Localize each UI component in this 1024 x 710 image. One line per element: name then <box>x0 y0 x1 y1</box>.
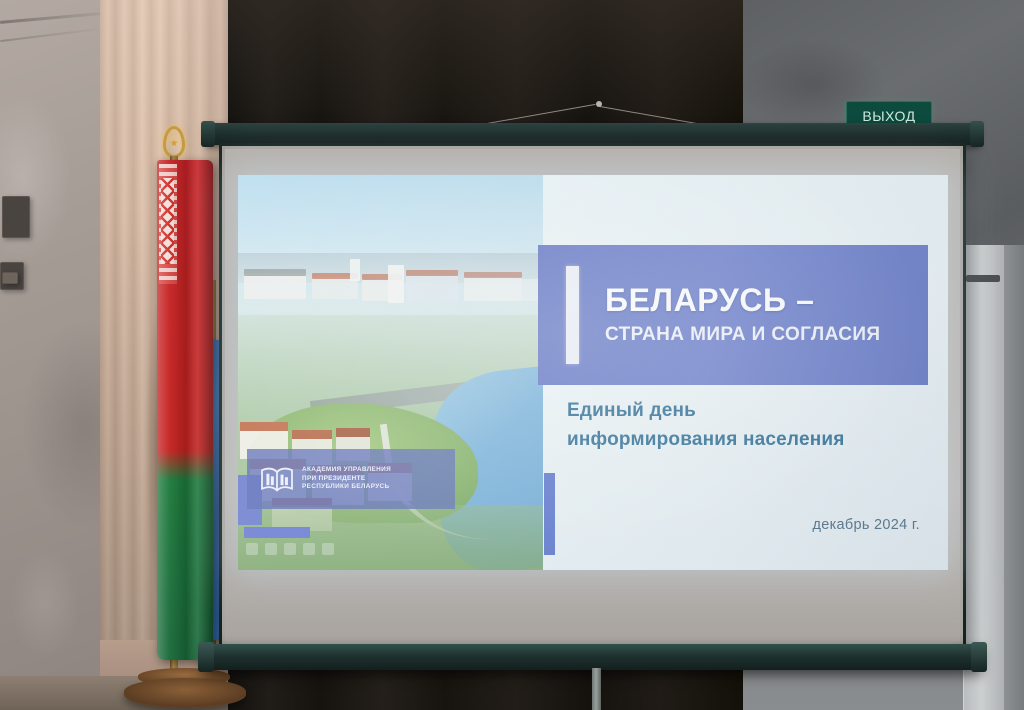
left-wall <box>0 0 112 710</box>
logo-line-2: ПРИ ПРЕЗИДЕНТЕ <box>302 476 391 482</box>
logo-line-3: РЕСПУБЛИКИ БЕЛАРУСЬ <box>302 484 391 490</box>
wall-fixture <box>2 272 18 284</box>
slide-date: декабрь 2024 г. <box>812 517 920 533</box>
screen-top-bar <box>205 123 980 145</box>
flag-stand-base <box>124 678 246 708</box>
social-icon <box>284 543 296 555</box>
screen-top-cap-right <box>970 121 984 147</box>
slide-content-panel: БЕЛАРУСЬ – СТРАНА МИРА И СОГЛАСИЯ Единый… <box>543 175 948 570</box>
title-accent-bar <box>566 266 579 364</box>
slide-title-group: БЕЛАРУСЬ – СТРАНА МИРА И СОГЛАСИЯ <box>605 284 880 347</box>
screen-stand-pole <box>592 668 601 710</box>
slide-title-sub: СТРАНА МИРА И СОГЛАСИЯ <box>605 324 880 346</box>
social-icon <box>322 543 334 555</box>
exit-sign-label: ВЫХОД <box>862 108 915 124</box>
flag-ornament-pattern <box>161 178 174 264</box>
logo-line-1: АКАДЕМИЯ УПРАВЛЕНИЯ <box>302 467 391 473</box>
projected-slide: АКАДЕМИЯ УПРАВЛЕНИЯ ПРИ ПРЕЗИДЕНТЕ РЕСПУ… <box>238 175 948 570</box>
slide-title-main: БЕЛАРУСЬ – <box>605 284 880 318</box>
slide-title-band: БЕЛАРУСЬ – СТРАНА МИРА И СОГЛАСИЯ <box>538 245 928 385</box>
social-icon <box>303 543 315 555</box>
social-icon <box>246 543 258 555</box>
academy-logo-band: АКАДЕМИЯ УПРАВЛЕНИЯ ПРИ ПРЕЗИДЕНТЕ РЕСПУ… <box>247 449 455 509</box>
door-handle[interactable] <box>966 275 1000 282</box>
social-icons-row <box>246 543 334 555</box>
flag-ornament-stripe <box>159 164 177 284</box>
cable-hook <box>596 101 602 107</box>
screen-bottom-cap-right <box>971 642 987 672</box>
screen-bottom-cap-left <box>198 642 214 672</box>
flag-finial-icon <box>163 126 185 158</box>
social-icon <box>265 543 277 555</box>
screen-bottom-bar <box>203 644 982 670</box>
door-panel[interactable] <box>963 245 1008 710</box>
drape-highlight <box>228 0 743 130</box>
conference-room-scene: ВЫХОД <box>0 0 1024 710</box>
slide-photo-minsk: АКАДЕМИЯ УПРАВЛЕНИЯ ПРИ ПРЕЗИДЕНТЕ РЕСПУ… <box>238 175 543 570</box>
belarus-flag <box>157 160 213 660</box>
accent-bar-bottom <box>244 527 310 538</box>
slide-subtitle-line-2: информирования населения <box>567 426 845 455</box>
academy-logo-text: АКАДЕМИЯ УПРАВЛЕНИЯ ПРИ ПРЕЗИДЕНТЕ РЕСПУ… <box>302 467 391 490</box>
wall-fixture <box>2 196 30 238</box>
accent-bar-vertical <box>544 473 555 555</box>
screen-top-cap-left <box>201 121 215 147</box>
door-jamb <box>1004 245 1024 710</box>
slide-subtitle: Единый день информирования населения <box>567 397 845 454</box>
slide-subtitle-line-1: Единый день <box>567 397 845 426</box>
open-book-icon <box>259 464 295 494</box>
